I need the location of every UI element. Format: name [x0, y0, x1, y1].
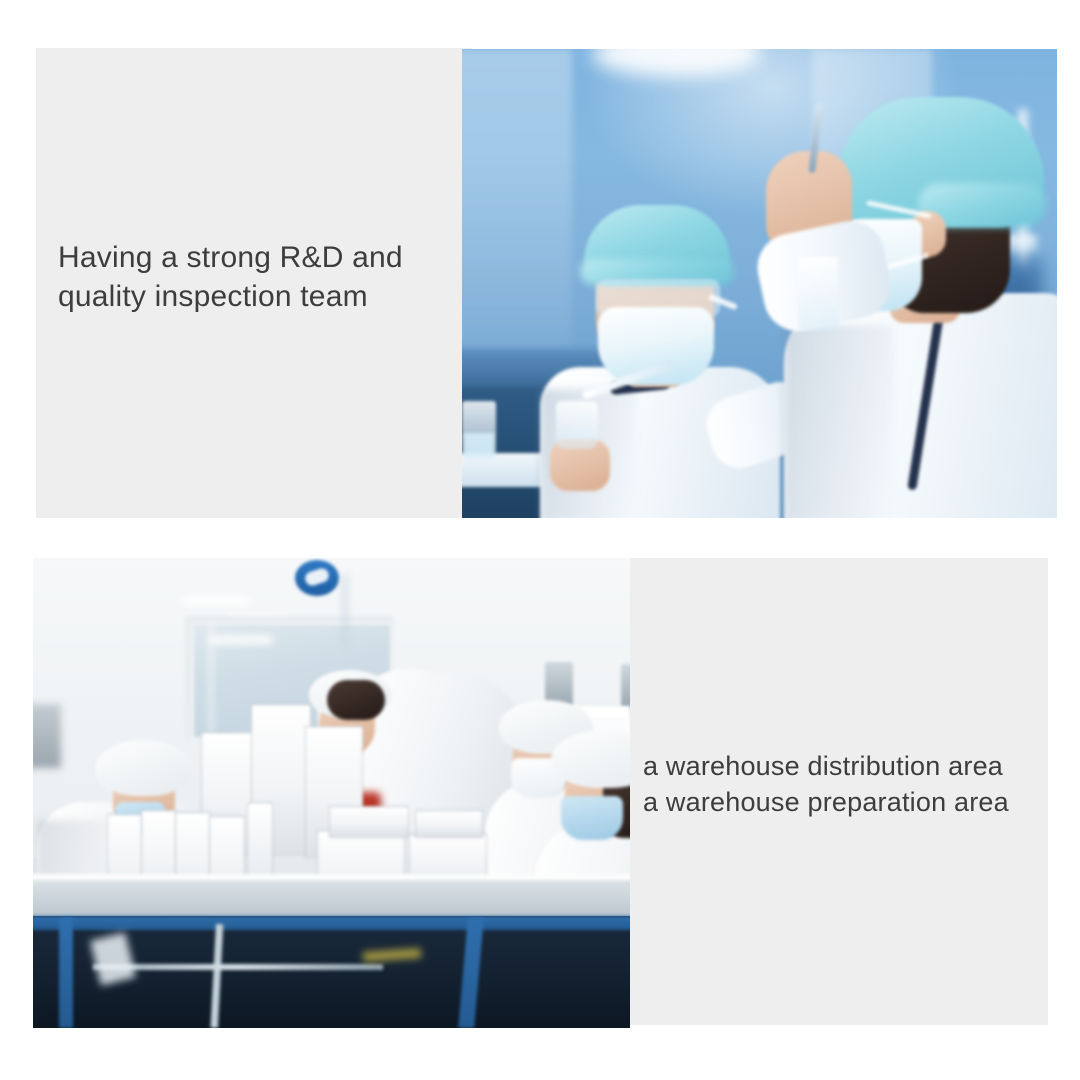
banner-root: Having a strong R&D and quality inspecti…: [0, 0, 1080, 1080]
worker-right-hairnet: [551, 730, 630, 788]
ceiling-light-strip: [183, 596, 249, 605]
vial-right: [798, 257, 838, 331]
table-leg-blue-left: [59, 918, 73, 1028]
window-reflection: [209, 636, 273, 644]
hanging-cable: [343, 574, 347, 646]
table-edge-highlight: [33, 874, 630, 880]
section-warehouse: a warehouse distribution area a warehous…: [0, 540, 1080, 1080]
lab-scene: [462, 49, 1057, 518]
packing-room-photo: [33, 558, 630, 1028]
window-mullion: [209, 622, 213, 734]
packing-room-scene: [33, 558, 630, 1028]
lab-technicians-photo: [462, 49, 1057, 518]
caption-rnd-quality: Having a strong R&D and quality inspecti…: [58, 238, 448, 316]
section-rnd-quality: Having a strong R&D and quality inspecti…: [0, 0, 1080, 540]
table-surface: [33, 876, 630, 918]
beaker-liquid: [464, 433, 494, 457]
flask-left: [556, 401, 598, 449]
right-tech-coat-shadow: [784, 325, 894, 518]
worker-right-mask: [561, 796, 623, 840]
table-cross-brace: [93, 964, 383, 970]
worker-center-hair: [327, 680, 385, 720]
box-flat-right-2: [415, 810, 483, 838]
worker-left-hairnet: [95, 740, 193, 796]
technician-right: [740, 79, 1057, 518]
caption-warehouse: a warehouse distribution area a warehous…: [643, 748, 1043, 820]
box-flat-stack-center-2: [329, 806, 409, 838]
table-frame-rail: [33, 916, 630, 930]
